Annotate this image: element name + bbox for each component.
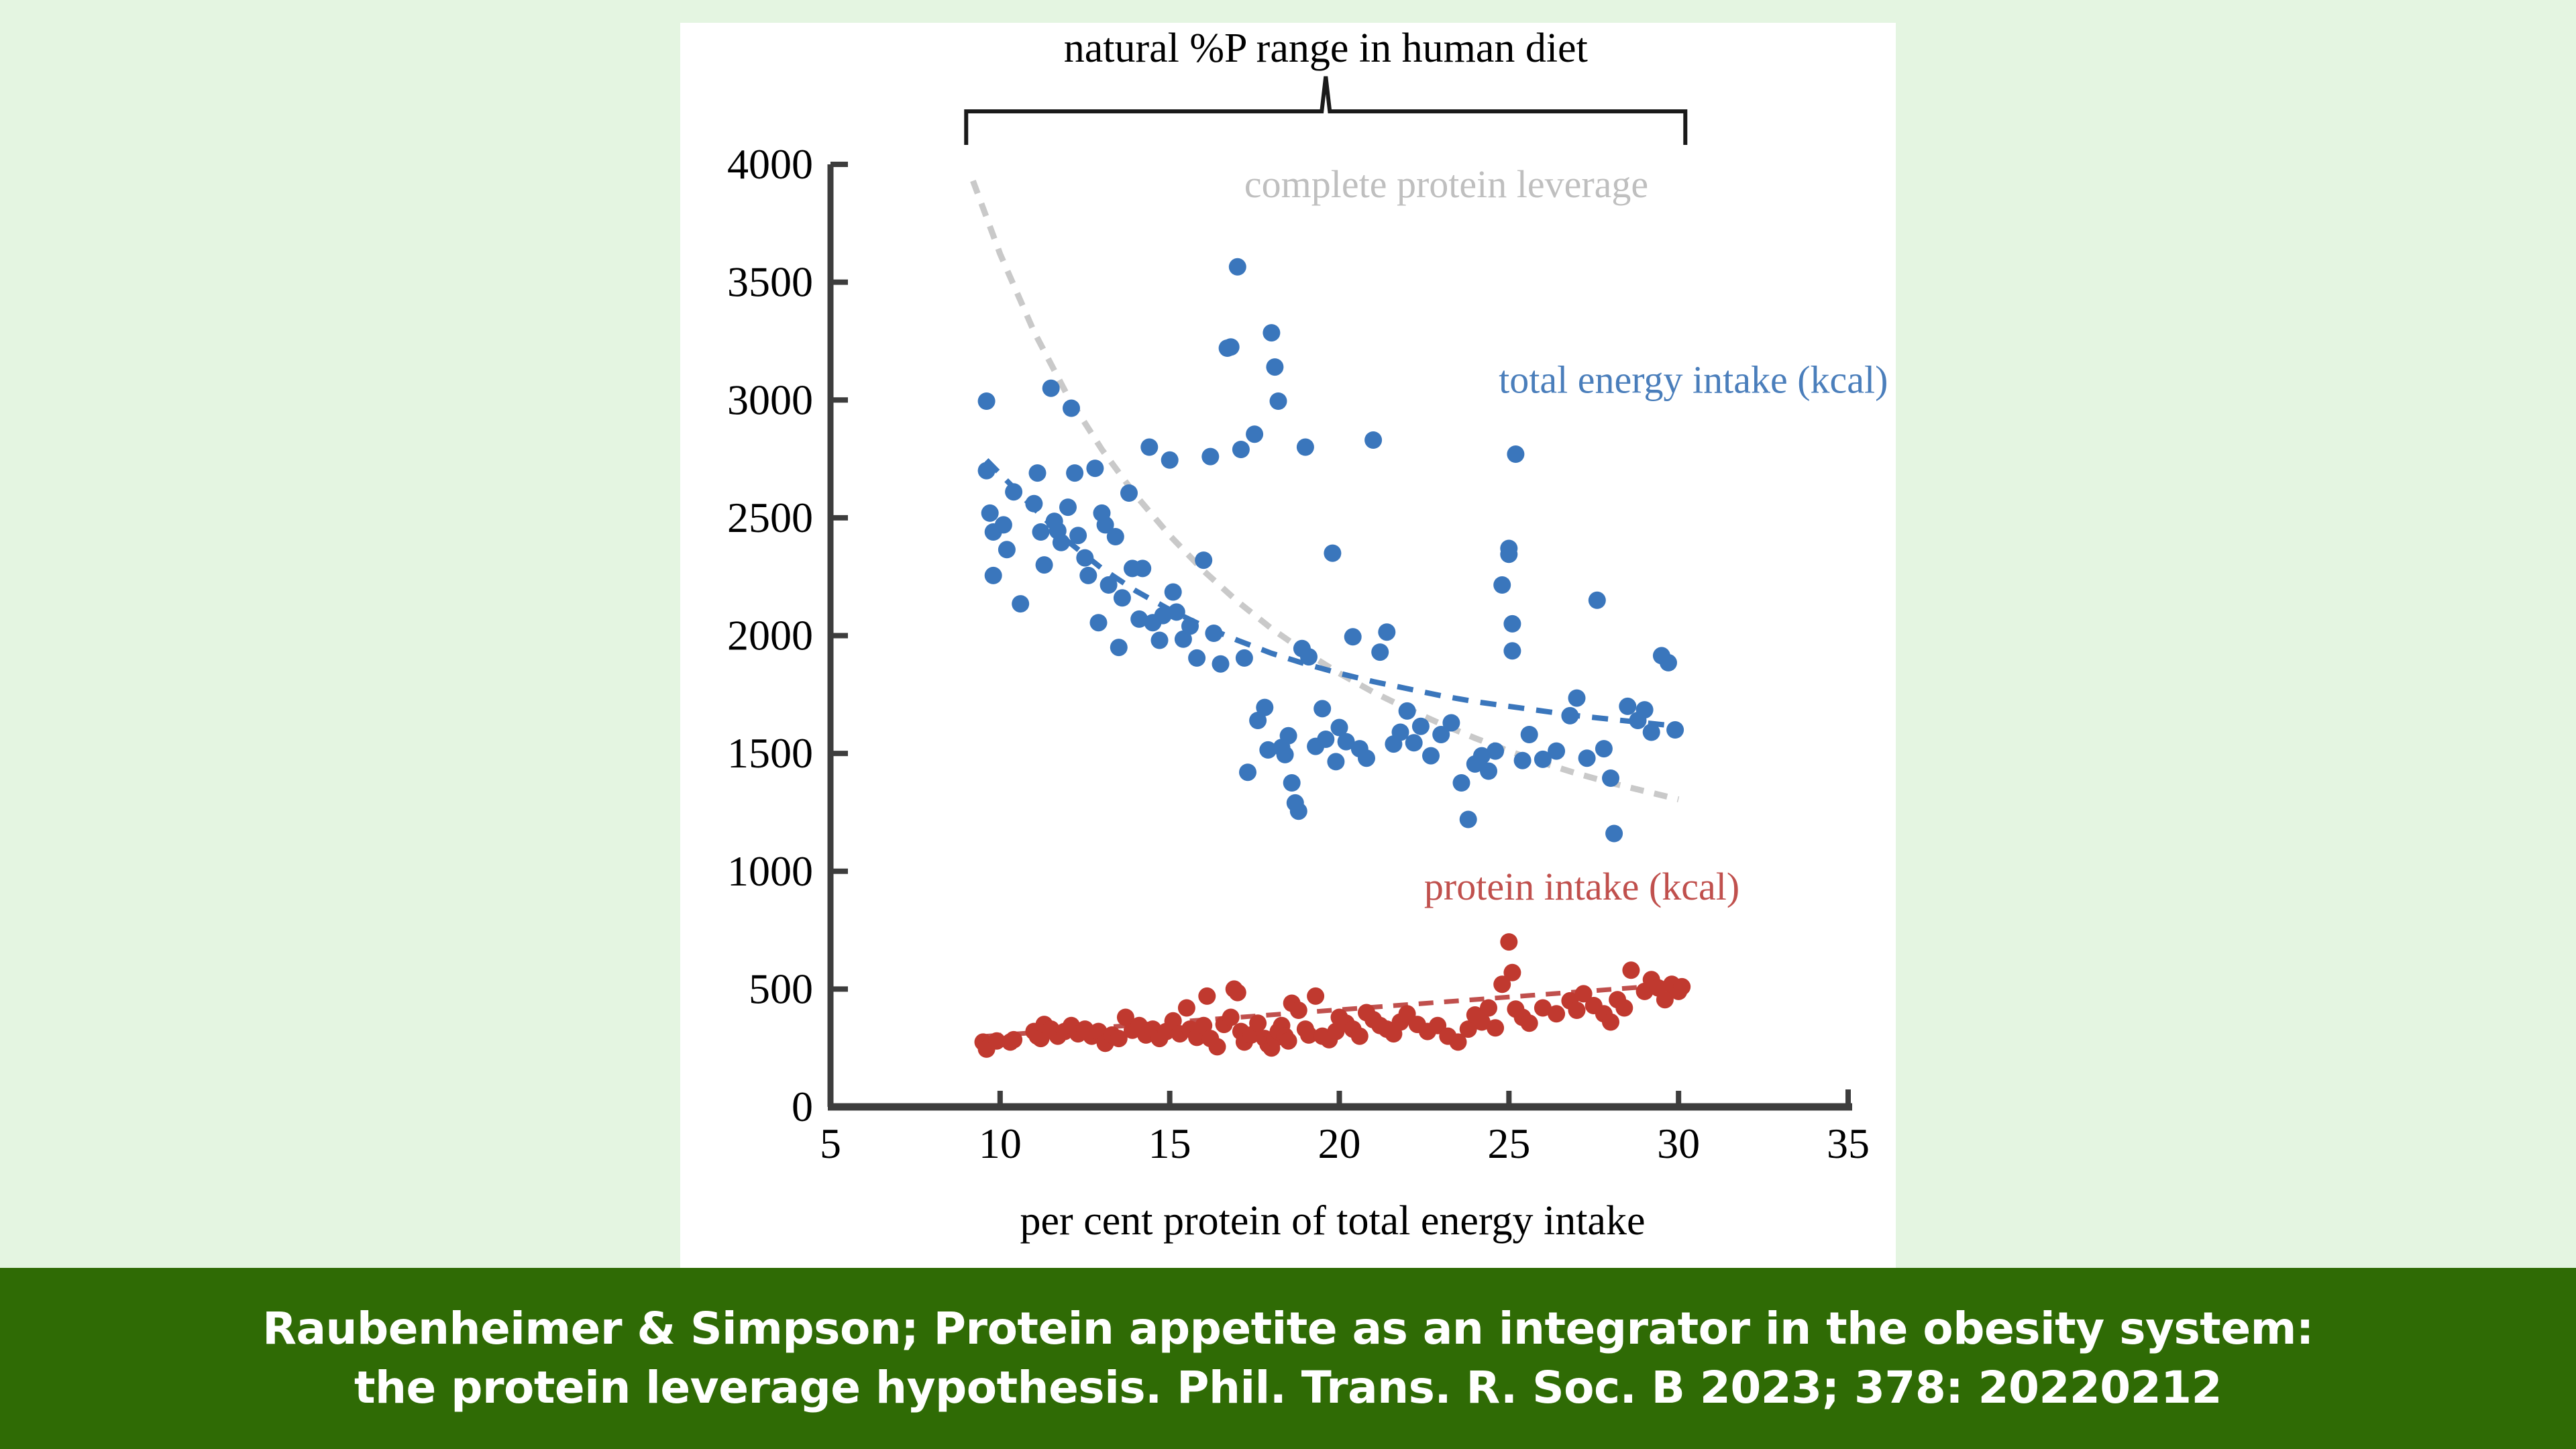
data-point bbox=[1422, 747, 1440, 765]
data-point bbox=[1405, 734, 1423, 751]
data-point bbox=[1266, 358, 1283, 376]
data-point bbox=[1100, 576, 1118, 594]
data-point bbox=[1460, 811, 1477, 828]
data-point bbox=[1290, 1002, 1307, 1019]
data-point bbox=[1076, 549, 1093, 567]
y-tick-label: 0 bbox=[792, 1083, 813, 1130]
data-point bbox=[1270, 392, 1287, 410]
data-point bbox=[1188, 649, 1205, 667]
data-point bbox=[1290, 802, 1307, 820]
bracket-label: natural %P range in human diet bbox=[1064, 25, 1588, 71]
data-point bbox=[1568, 690, 1586, 707]
y-tick-label: 4000 bbox=[727, 140, 813, 188]
data-point bbox=[1134, 559, 1151, 577]
data-point bbox=[1165, 584, 1182, 601]
data-point bbox=[1205, 625, 1222, 642]
data-point bbox=[1500, 933, 1517, 951]
data-point bbox=[1263, 324, 1280, 341]
data-point bbox=[1140, 439, 1158, 456]
data-point bbox=[1053, 534, 1070, 551]
data-point bbox=[1114, 589, 1131, 606]
citation-banner: Raubenheimer & Simpson; Protein appetite… bbox=[0, 1268, 2576, 1449]
data-point bbox=[1636, 701, 1654, 718]
data-point bbox=[1351, 1028, 1368, 1045]
data-point bbox=[1521, 1014, 1538, 1032]
data-point bbox=[1378, 623, 1395, 641]
data-point bbox=[1079, 567, 1097, 584]
data-point bbox=[1107, 528, 1124, 545]
data-point bbox=[1503, 642, 1521, 659]
citation-line-2: the protein leverage hypothesis. Phil. T… bbox=[354, 1358, 2222, 1417]
data-point bbox=[1181, 617, 1199, 635]
data-point bbox=[1232, 441, 1250, 458]
data-point bbox=[1195, 551, 1212, 569]
data-point bbox=[1005, 1031, 1022, 1049]
y-tick-label: 500 bbox=[749, 965, 813, 1012]
data-point bbox=[1324, 545, 1341, 562]
data-point bbox=[1229, 258, 1246, 276]
data-point bbox=[1069, 527, 1087, 544]
data-point bbox=[1063, 400, 1080, 417]
data-point bbox=[1246, 425, 1263, 443]
data-point bbox=[1151, 632, 1169, 649]
protein-leverage-scatter-chart: natural %P range in human diet 050010001… bbox=[680, 23, 1896, 1268]
data-point bbox=[1500, 545, 1517, 563]
y-tick-label: 1500 bbox=[727, 729, 813, 777]
y-tick-label: 1000 bbox=[727, 847, 813, 895]
x-tick-label: 15 bbox=[1148, 1120, 1191, 1167]
chart-background bbox=[680, 23, 1896, 1268]
data-point bbox=[1619, 698, 1636, 715]
data-point bbox=[1005, 483, 1022, 500]
data-point bbox=[1453, 774, 1470, 792]
data-point bbox=[1660, 654, 1677, 672]
data-point bbox=[1090, 614, 1108, 631]
data-point bbox=[1643, 724, 1660, 741]
data-point bbox=[1317, 731, 1334, 748]
figure-panel: natural %P range in human diet 050010001… bbox=[680, 23, 1896, 1268]
data-point bbox=[1229, 984, 1246, 1002]
x-tick-label: 5 bbox=[820, 1120, 841, 1167]
data-point bbox=[1297, 439, 1314, 456]
data-point bbox=[1615, 1000, 1633, 1017]
data-point bbox=[1032, 523, 1050, 541]
energy-series-label: total energy intake (kcal) bbox=[1499, 358, 1888, 402]
data-point bbox=[1666, 721, 1684, 739]
data-point bbox=[1012, 595, 1029, 612]
data-point bbox=[1239, 763, 1256, 781]
data-point bbox=[978, 462, 996, 480]
data-point bbox=[1548, 1005, 1565, 1022]
data-point bbox=[995, 516, 1012, 533]
data-point bbox=[1029, 464, 1046, 482]
data-point bbox=[1120, 484, 1138, 502]
y-tick-label: 3500 bbox=[727, 258, 813, 306]
x-tick-label: 20 bbox=[1318, 1120, 1361, 1167]
data-point bbox=[1059, 498, 1077, 516]
data-point bbox=[1589, 592, 1606, 609]
data-point bbox=[1249, 1014, 1267, 1032]
data-point bbox=[1487, 743, 1504, 760]
data-point bbox=[1086, 460, 1104, 477]
data-point bbox=[1042, 380, 1060, 397]
data-point bbox=[1300, 648, 1318, 665]
data-point bbox=[978, 392, 996, 410]
data-point bbox=[1236, 649, 1253, 667]
data-point bbox=[1622, 961, 1640, 979]
data-point bbox=[1507, 445, 1524, 463]
y-tick-label: 2000 bbox=[727, 612, 813, 659]
data-point bbox=[1503, 615, 1521, 633]
data-point bbox=[1307, 987, 1324, 1005]
data-point bbox=[1578, 749, 1596, 767]
data-point bbox=[998, 541, 1016, 558]
data-point bbox=[1358, 749, 1375, 767]
leverage-curve-label: complete protein leverage bbox=[1244, 162, 1648, 206]
data-point bbox=[1198, 987, 1216, 1005]
y-tick-label: 2500 bbox=[727, 494, 813, 541]
data-point bbox=[1327, 753, 1344, 770]
data-point bbox=[1493, 576, 1511, 594]
data-point bbox=[1442, 714, 1460, 732]
data-point bbox=[1209, 1038, 1226, 1055]
data-point bbox=[1066, 464, 1083, 482]
data-point bbox=[1256, 699, 1273, 716]
data-point bbox=[1222, 338, 1240, 356]
data-point bbox=[1036, 556, 1053, 574]
data-point bbox=[1568, 1002, 1586, 1019]
data-point bbox=[1412, 718, 1430, 735]
x-tick-label: 30 bbox=[1657, 1120, 1700, 1167]
data-point bbox=[1480, 763, 1497, 780]
data-point bbox=[1168, 603, 1185, 621]
slide-root: natural %P range in human diet 050010001… bbox=[0, 0, 2576, 1449]
data-point bbox=[1110, 639, 1128, 656]
data-point bbox=[1364, 431, 1382, 449]
y-tick-label: 3000 bbox=[727, 376, 813, 423]
data-point bbox=[1561, 707, 1578, 724]
data-point bbox=[1487, 1019, 1504, 1036]
data-point bbox=[1521, 726, 1538, 743]
x-axis-title: per cent protein of total energy intake bbox=[1020, 1198, 1646, 1244]
data-point bbox=[1371, 643, 1389, 661]
x-tick-label: 25 bbox=[1487, 1120, 1530, 1167]
protein-series-label: protein intake (kcal) bbox=[1424, 865, 1739, 908]
data-point bbox=[985, 567, 1002, 584]
data-point bbox=[1480, 1000, 1497, 1017]
data-point bbox=[1605, 825, 1623, 843]
data-point bbox=[1673, 978, 1690, 996]
data-point bbox=[1212, 655, 1230, 673]
x-tick-label: 10 bbox=[979, 1120, 1022, 1167]
data-point bbox=[1178, 1000, 1195, 1017]
data-point bbox=[1399, 702, 1416, 720]
data-point bbox=[1514, 752, 1532, 769]
data-point bbox=[1313, 700, 1331, 717]
data-point bbox=[1222, 1009, 1240, 1026]
data-point bbox=[1344, 628, 1362, 645]
data-point bbox=[1548, 743, 1565, 760]
citation-line-1: Raubenheimer & Simpson; Protein appetite… bbox=[262, 1299, 2314, 1358]
data-point bbox=[1503, 964, 1521, 981]
data-point bbox=[1161, 451, 1179, 469]
data-point bbox=[1602, 1014, 1619, 1031]
data-point bbox=[1280, 727, 1297, 745]
data-point bbox=[1277, 746, 1294, 763]
data-point bbox=[1025, 495, 1042, 513]
x-tick-label: 35 bbox=[1827, 1120, 1870, 1167]
data-point bbox=[1283, 774, 1301, 792]
data-point bbox=[1280, 1032, 1297, 1050]
data-point bbox=[1595, 740, 1613, 757]
data-point bbox=[1201, 448, 1219, 466]
data-point bbox=[981, 504, 999, 522]
data-point bbox=[1602, 769, 1619, 787]
